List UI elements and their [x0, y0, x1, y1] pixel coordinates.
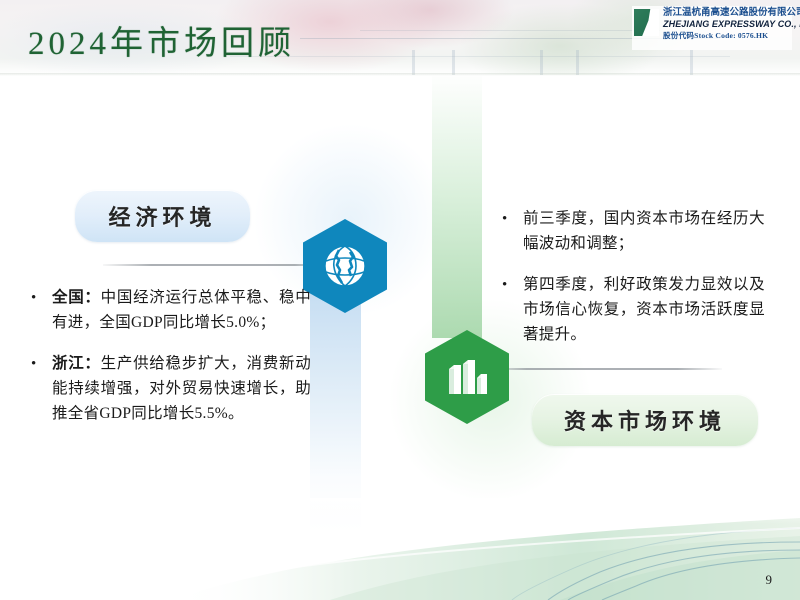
- footer-road-graphic: [0, 498, 800, 600]
- economy-section-label: 经济环境: [75, 190, 250, 242]
- globe-icon: [322, 243, 368, 289]
- bullet-lead: 浙江：: [52, 355, 101, 372]
- expressway-logo-icon: [634, 9, 659, 36]
- list-item: • 第四季度，利好政策发力显效以及市场信心恢复，资本市场活跃度显著提升。: [497, 272, 765, 347]
- economy-bullet-list: • 全国：中国经济运行总体平稳、稳中有进，全国GDP同比增长5.0%； • 浙江…: [26, 285, 311, 442]
- bullet-text: 前三季度，国内资本市场在经历大幅波动和调整；: [523, 206, 765, 256]
- economy-connector-line: [103, 264, 321, 266]
- capital-market-section-label: 资本市场环境: [532, 394, 758, 446]
- blue-vertical-band: [310, 292, 361, 532]
- capital-market-bullet-list: • 前三季度，国内资本市场在经历大幅波动和调整； • 第四季度，利好政策发力显效…: [497, 206, 765, 363]
- list-item: • 前三季度，国内资本市场在经历大幅波动和调整；: [497, 206, 765, 256]
- bullet-lead: 全国：: [52, 289, 101, 306]
- footer-landscape-decoration: [0, 498, 800, 600]
- bullet-body: 前三季度，国内资本市场在经历大幅波动和调整；: [523, 210, 765, 252]
- bullet-text: 浙江：生产供给稳步扩大，消费新动能持续增强，对外贸易快速增长，助推全省GDP同比…: [52, 351, 311, 426]
- bullet-text: 第四季度，利好政策发力显效以及市场信心恢复，资本市场活跃度显著提升。: [523, 272, 765, 347]
- company-logo: 浙江温杭甬高速公路股份有限公司 ZHEJIANG EXPRESSWAY CO.,…: [632, 6, 792, 50]
- bullet-marker: •: [497, 206, 523, 256]
- capital-market-connector-line: [500, 368, 722, 370]
- page-title: 2024年市场回顾: [28, 16, 295, 64]
- capital-market-label-text: 资本市场环境: [564, 404, 726, 436]
- logo-company-name-en: ZHEJIANG EXPRESSWAY CO., LTD.: [663, 20, 800, 29]
- bullet-marker: •: [26, 351, 52, 426]
- bar-chart-icon: [443, 354, 491, 400]
- bullet-body: 第四季度，利好政策发力显效以及市场信心恢复，资本市场活跃度显著提升。: [523, 276, 765, 343]
- list-item: • 全国：中国经济运行总体平稳、稳中有进，全国GDP同比增长5.0%；: [26, 285, 311, 335]
- logo-stock-code: 股份代码Stock Code: 0576.HK: [663, 32, 800, 40]
- list-item: • 浙江：生产供给稳步扩大，消费新动能持续增强，对外贸易快速增长，助推全省GDP…: [26, 351, 311, 426]
- economy-label-text: 经济环境: [108, 200, 216, 232]
- logo-company-name-cn: 浙江温杭甬高速公路股份有限公司: [663, 8, 800, 18]
- green-vertical-band: [432, 76, 482, 338]
- slide-canvas: 2024年市场回顾 浙江温杭甬高速公路股份有限公司 ZHEJIANG EXPRE…: [0, 0, 800, 600]
- header-underline: [0, 73, 800, 76]
- bullet-marker: •: [497, 272, 523, 347]
- bullet-marker: •: [26, 285, 52, 335]
- bullet-text: 全国：中国经济运行总体平稳、稳中有进，全国GDP同比增长5.0%；: [52, 285, 311, 335]
- page-number: 9: [766, 572, 773, 588]
